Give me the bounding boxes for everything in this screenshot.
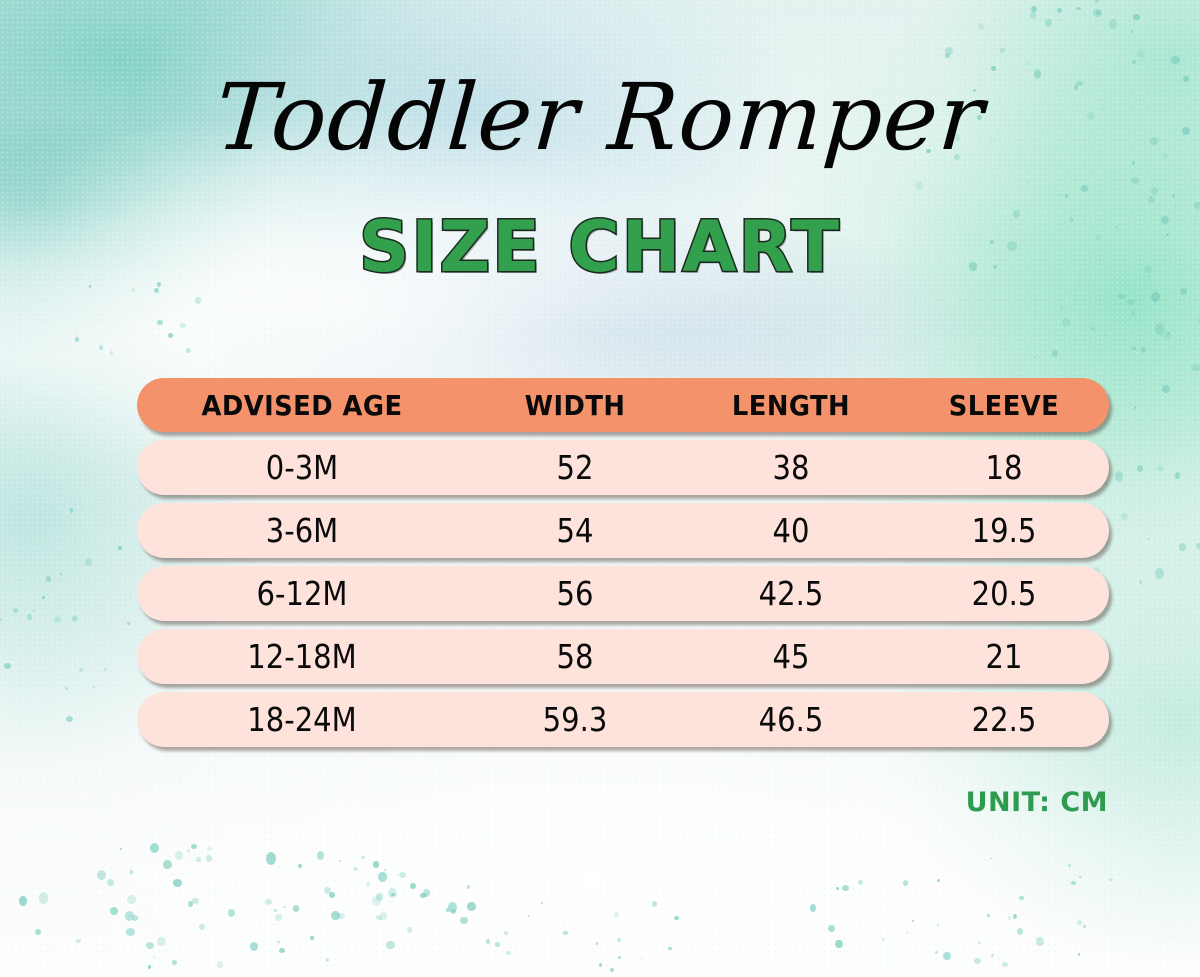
- splatter-dot: [39, 892, 48, 904]
- splatter-dot: [1167, 332, 1170, 334]
- splatter-dot: [420, 893, 426, 898]
- splatter-dot: [423, 889, 431, 897]
- splatter-dot: [180, 323, 185, 329]
- splatter-dot: [828, 925, 835, 933]
- table-row: 18-24M 59.3 46.5 22.5: [137, 692, 1109, 747]
- splatter-dot: [1132, 311, 1135, 315]
- splatter-dot: [73, 617, 75, 620]
- splatter-dot: [175, 851, 183, 859]
- splatter-dot: [99, 345, 104, 351]
- cell-width: 52: [480, 448, 670, 487]
- splatter-dot: [1137, 465, 1143, 472]
- splatter-dot: [274, 909, 277, 912]
- splatter-dot: [188, 901, 193, 907]
- splatter-dot: [614, 912, 619, 917]
- splatter-dot: [146, 942, 154, 949]
- cell-advised-age: 6-12M: [157, 574, 447, 613]
- splatter-dot: [978, 23, 984, 30]
- splatter-dot: [310, 936, 314, 940]
- column-header-width: WIDTH: [476, 389, 675, 422]
- splatter-dot: [1060, 306, 1063, 309]
- splatter-dot: [72, 615, 79, 622]
- splatter-dot: [945, 47, 953, 55]
- splatter-dot: [195, 297, 201, 304]
- splatter-dot: [1191, 364, 1199, 371]
- splatter-dot: [1027, 180, 1029, 183]
- splatter-dot: [1132, 60, 1136, 64]
- splatter-dot: [990, 858, 991, 859]
- splatter-dot: [4, 663, 11, 670]
- cell-width: 58: [480, 637, 670, 676]
- splatter-dot: [1035, 310, 1036, 311]
- splatter-dot: [372, 896, 381, 906]
- splatter-dot: [266, 852, 276, 864]
- splatter-dot: [506, 951, 511, 956]
- splatter-dot: [148, 965, 152, 969]
- splatter-dot: [1096, 10, 1102, 15]
- splatter-dot: [674, 916, 679, 921]
- splatter-dot: [974, 958, 981, 965]
- splatter-dot: [293, 905, 299, 912]
- splatter-dot: [125, 364, 127, 366]
- cell-advised-age: 3-6M: [157, 511, 447, 550]
- splatter-dot: [668, 947, 671, 950]
- splatter-dot: [192, 898, 199, 904]
- splatter-dot: [617, 938, 621, 942]
- splatter-dot: [1155, 323, 1164, 334]
- splatter-dot: [1031, 6, 1036, 13]
- splatter-dot: [1060, 194, 1062, 196]
- splatter-dot: [39, 514, 41, 515]
- splatter-dot: [339, 860, 341, 862]
- splatter-dot: [13, 608, 18, 613]
- cell-sleeve: 18: [912, 448, 1097, 487]
- splatter-dot: [42, 596, 45, 599]
- splatter-dot: [596, 942, 598, 944]
- splatter-dot: [376, 915, 382, 920]
- splatter-dot: [1151, 292, 1160, 301]
- splatter-dot: [277, 941, 279, 943]
- splatter-dot: [326, 958, 329, 962]
- splatter-dot: [1137, 50, 1145, 58]
- splatter-dot: [1174, 205, 1177, 208]
- splatter-dot: [610, 968, 614, 972]
- splatter-dot: [1151, 187, 1159, 195]
- splatter-dot: [1127, 299, 1134, 306]
- splatter-dot: [373, 861, 379, 867]
- splatter-dot: [1019, 896, 1024, 900]
- cell-sleeve: 22.5: [912, 700, 1097, 739]
- splatter-dot: [0, 618, 2, 621]
- splatter-dot: [810, 904, 817, 912]
- splatter-dot: [283, 906, 285, 908]
- splatter-dot: [33, 610, 35, 612]
- splatter-dot: [191, 844, 197, 849]
- cell-advised-age: 12-18M: [157, 637, 447, 676]
- splatter-dot: [331, 911, 340, 921]
- column-header-sleeve: SLEEVE: [907, 389, 1100, 422]
- splatter-dot: [154, 288, 159, 293]
- splatter-dot: [1083, 925, 1086, 928]
- cell-length: 42.5: [696, 574, 886, 613]
- splatter-dot: [19, 896, 27, 906]
- cell-advised-age: 18-24M: [157, 700, 447, 739]
- splatter-dot: [937, 924, 939, 926]
- splatter-dot: [1162, 385, 1170, 394]
- splatter-dot: [1081, 185, 1088, 192]
- splatter-dot: [1079, 876, 1082, 878]
- splatter-dot: [911, 913, 912, 914]
- splatter-dot: [1077, 920, 1082, 925]
- table-row: 0-3M 52 38 18: [137, 440, 1109, 495]
- cell-advised-age: 0-3M: [157, 448, 447, 487]
- column-header-length: LENGTH: [692, 389, 891, 422]
- splatter-dot: [129, 915, 131, 917]
- splatter-dot: [399, 872, 406, 878]
- splatter-dot: [1030, 11, 1036, 18]
- splatter-dot: [392, 902, 393, 903]
- splatter-dot: [1148, 196, 1155, 203]
- splatter-dot: [1017, 928, 1023, 935]
- page-title: Toddler Romper: [0, 70, 1200, 167]
- splatter-dot: [228, 909, 235, 917]
- splatter-dot: [1175, 472, 1181, 479]
- splatter-dot: [388, 888, 396, 898]
- table-row: 6-12M 56 42.5 20.5: [137, 566, 1109, 621]
- splatter-dot: [172, 960, 177, 965]
- splatter-dot: [265, 899, 272, 905]
- splatter-dot: [1157, 466, 1163, 471]
- splatter-dot: [1118, 293, 1124, 299]
- splatter-dot: [275, 914, 281, 921]
- splatter-dot: [75, 337, 79, 342]
- splatter-dot: [279, 948, 285, 953]
- splatter-dot: [1013, 914, 1018, 920]
- splatter-dot: [153, 956, 155, 958]
- splatter-dot: [129, 597, 131, 599]
- splatter-dot: [912, 180, 913, 181]
- splatter-dot: [1148, 538, 1149, 539]
- splatter-dot: [987, 914, 990, 918]
- splatter-dot: [132, 915, 138, 921]
- splatter-dot: [66, 716, 73, 722]
- splatter-dot: [70, 508, 73, 512]
- splatter-dot: [120, 848, 122, 850]
- splatter-dot: [79, 668, 83, 672]
- splatter-dot: [1068, 864, 1071, 867]
- splatter-dot: [1139, 580, 1142, 584]
- splatter-dot: [317, 851, 324, 860]
- splatter-dot: [1196, 543, 1200, 549]
- splatter-dot: [281, 914, 283, 916]
- splatter-dot: [35, 929, 41, 935]
- splatter-dot: [65, 687, 68, 691]
- splatter-dot: [1104, 334, 1106, 336]
- splatter-dot: [1179, 543, 1186, 550]
- splatter-dot: [945, 53, 949, 58]
- splatter-dot: [199, 924, 205, 930]
- splatter-dot: [1141, 347, 1146, 353]
- splatter-dot: [640, 958, 641, 959]
- splatter-dot: [1121, 513, 1128, 520]
- splatter-dot: [118, 546, 122, 550]
- splatter-dot: [384, 869, 386, 871]
- splatter-dot: [76, 939, 81, 943]
- splatter-dot: [380, 918, 382, 920]
- splatter-dot: [85, 558, 92, 566]
- splatter-dot: [173, 879, 182, 887]
- splatter-dot: [859, 925, 860, 926]
- splatter-dot: [991, 954, 994, 957]
- splatter-dot: [132, 288, 135, 291]
- splatter-dot: [92, 686, 95, 688]
- table-row: 12-18M 58 45 21: [137, 629, 1109, 684]
- splatter-dot: [186, 348, 190, 353]
- splatter-dot: [460, 917, 467, 925]
- splatter-dot: [916, 181, 924, 190]
- splatter-dot: [110, 907, 118, 915]
- splatter-dot: [943, 952, 951, 960]
- splatter-dot: [1036, 937, 1044, 946]
- splatter-dot: [842, 885, 848, 891]
- splatter-dot: [141, 311, 142, 312]
- splatter-dot: [366, 882, 370, 887]
- splatter-dot: [298, 864, 302, 868]
- splatter-dot: [54, 616, 61, 622]
- splatter-dot: [386, 941, 395, 950]
- splatter-dot: [187, 849, 190, 853]
- splatter-dot: [329, 892, 335, 898]
- splatter-dot: [376, 893, 383, 900]
- splatter-dot: [652, 901, 657, 907]
- splatter-dot: [27, 614, 32, 619]
- splatter-dot: [361, 856, 365, 859]
- splatter-dot: [1132, 347, 1136, 350]
- cell-sleeve: 19.5: [912, 511, 1097, 550]
- splatter-dot: [618, 956, 621, 960]
- splatter-dot: [1109, 19, 1117, 28]
- splatter-dot: [1065, 194, 1069, 198]
- splatter-dot: [157, 320, 163, 326]
- splatter-dot: [107, 879, 115, 887]
- splatter-dot: [1180, 288, 1187, 295]
- splatter-dot: [168, 333, 173, 338]
- splatter-dot: [250, 942, 258, 952]
- splatter-dot: [1052, 350, 1059, 357]
- splatter-dot: [1155, 568, 1164, 579]
- splatter-dot: [163, 860, 172, 869]
- size-chart-table: ADVISED AGE WIDTH LENGTH SLEEVE 0-3M 52 …: [137, 378, 1109, 755]
- splatter-dot: [835, 940, 843, 949]
- page-subtitle: SIZE CHART: [0, 212, 1200, 282]
- splatter-dot: [1171, 56, 1180, 64]
- size-chart-poster: Toddler Romper SIZE CHART ADVISED AGE WI…: [0, 0, 1200, 977]
- splatter-dot: [1071, 881, 1076, 885]
- splatter-dot: [599, 963, 602, 966]
- splatter-dot: [126, 928, 136, 936]
- cell-sleeve: 20.5: [912, 574, 1097, 613]
- splatter-dot: [1026, 62, 1028, 64]
- splatter-dot: [563, 931, 568, 936]
- splatter-dot: [1172, 194, 1175, 198]
- splatter-dot: [60, 573, 62, 575]
- splatter-dot: [912, 920, 914, 921]
- splatter-dot: [1002, 962, 1008, 967]
- cell-length: 45: [696, 637, 886, 676]
- splatter-dot: [563, 924, 564, 925]
- splatter-dot: [1134, 406, 1136, 409]
- splatter-dot: [206, 855, 211, 862]
- splatter-dot: [353, 867, 358, 871]
- splatter-dot: [1076, 7, 1081, 11]
- splatter-dot: [1121, 303, 1123, 305]
- splatter-dot: [110, 351, 113, 354]
- splatter-dot: [495, 942, 500, 947]
- splatter-dot: [46, 576, 51, 582]
- splatter-dot: [127, 622, 130, 625]
- cell-width: 59.3: [480, 700, 670, 739]
- splatter-dot: [486, 939, 490, 943]
- cell-sleeve: 21: [912, 637, 1097, 676]
- splatter-dot: [1093, 9, 1101, 17]
- splatter-dot: [448, 902, 457, 913]
- splatter-dot: [1095, 0, 1099, 3]
- splatter-dot: [150, 843, 160, 853]
- splatter-dot: [410, 883, 416, 890]
- table-row: 3-6M 54 40 19.5: [137, 503, 1109, 558]
- splatter-dot: [89, 285, 91, 287]
- splatter-dot: [217, 961, 223, 968]
- splatter-dot: [1057, 8, 1062, 13]
- splatter-dot: [1091, 327, 1094, 330]
- cell-length: 40: [696, 511, 886, 550]
- splatter-dot: [1112, 878, 1114, 880]
- splatter-dot: [196, 857, 201, 862]
- splatter-dot: [446, 908, 449, 912]
- splatter-dot: [1131, 30, 1134, 33]
- cell-width: 56: [480, 574, 670, 613]
- splatter-dot: [906, 932, 908, 934]
- splatter-dot: [236, 885, 237, 886]
- splatter-dot: [337, 913, 345, 920]
- splatter-dot: [380, 912, 387, 920]
- splatter-dot: [130, 870, 133, 873]
- splatter-dot: [157, 282, 161, 287]
- splatter-dot: [1131, 177, 1139, 184]
- splatter-dot: [1133, 14, 1140, 20]
- splatter-dot: [1163, 332, 1171, 340]
- splatter-dot: [324, 887, 332, 895]
- splatter-dot: [1078, 953, 1080, 956]
- splatter-dot: [259, 922, 260, 923]
- splatter-dot: [127, 895, 136, 904]
- splatter-dot: [1194, 202, 1200, 210]
- splatter-dot: [978, 941, 981, 944]
- table-header-row: ADVISED AGE WIDTH LENGTH SLEEVE: [137, 378, 1109, 432]
- splatter-dot: [157, 937, 166, 947]
- splatter-dot: [1033, 356, 1036, 359]
- splatter-dot: [467, 885, 470, 889]
- splatter-dot: [1045, 19, 1052, 27]
- splatter-dot: [378, 872, 387, 882]
- splatter-dot: [407, 927, 412, 933]
- cell-width: 54: [480, 511, 670, 550]
- column-header-advised-age: ADVISED AGE: [150, 389, 454, 422]
- splatter-dot: [836, 887, 839, 890]
- splatter-dot: [937, 879, 940, 882]
- splatter-dot: [104, 668, 107, 671]
- splatter-dot: [1000, 48, 1005, 53]
- splatter-dot: [207, 847, 211, 851]
- splatter-dot: [1115, 471, 1123, 481]
- splatter-dot: [1143, 585, 1145, 587]
- cell-length: 46.5: [696, 700, 886, 739]
- splatter-dot: [935, 951, 937, 953]
- splatter-dot: [451, 909, 457, 914]
- splatter-dot: [391, 893, 394, 896]
- splatter-dot: [1062, 318, 1071, 327]
- splatter-dot: [125, 911, 135, 921]
- splatter-dot: [504, 931, 508, 934]
- splatter-dot: [882, 938, 885, 940]
- splatter-dot: [1109, 878, 1112, 881]
- splatter-dot: [541, 902, 543, 904]
- splatter-dot: [467, 902, 476, 911]
- cell-length: 38: [696, 448, 886, 487]
- unit-note: UNIT: CM: [966, 787, 1108, 818]
- splatter-dot: [1123, 295, 1127, 298]
- splatter-dot: [97, 870, 106, 880]
- splatter-dot: [1008, 916, 1012, 920]
- splatter-dot: [528, 915, 529, 917]
- splatter-dot: [858, 880, 863, 885]
- splatter-dot: [903, 880, 908, 886]
